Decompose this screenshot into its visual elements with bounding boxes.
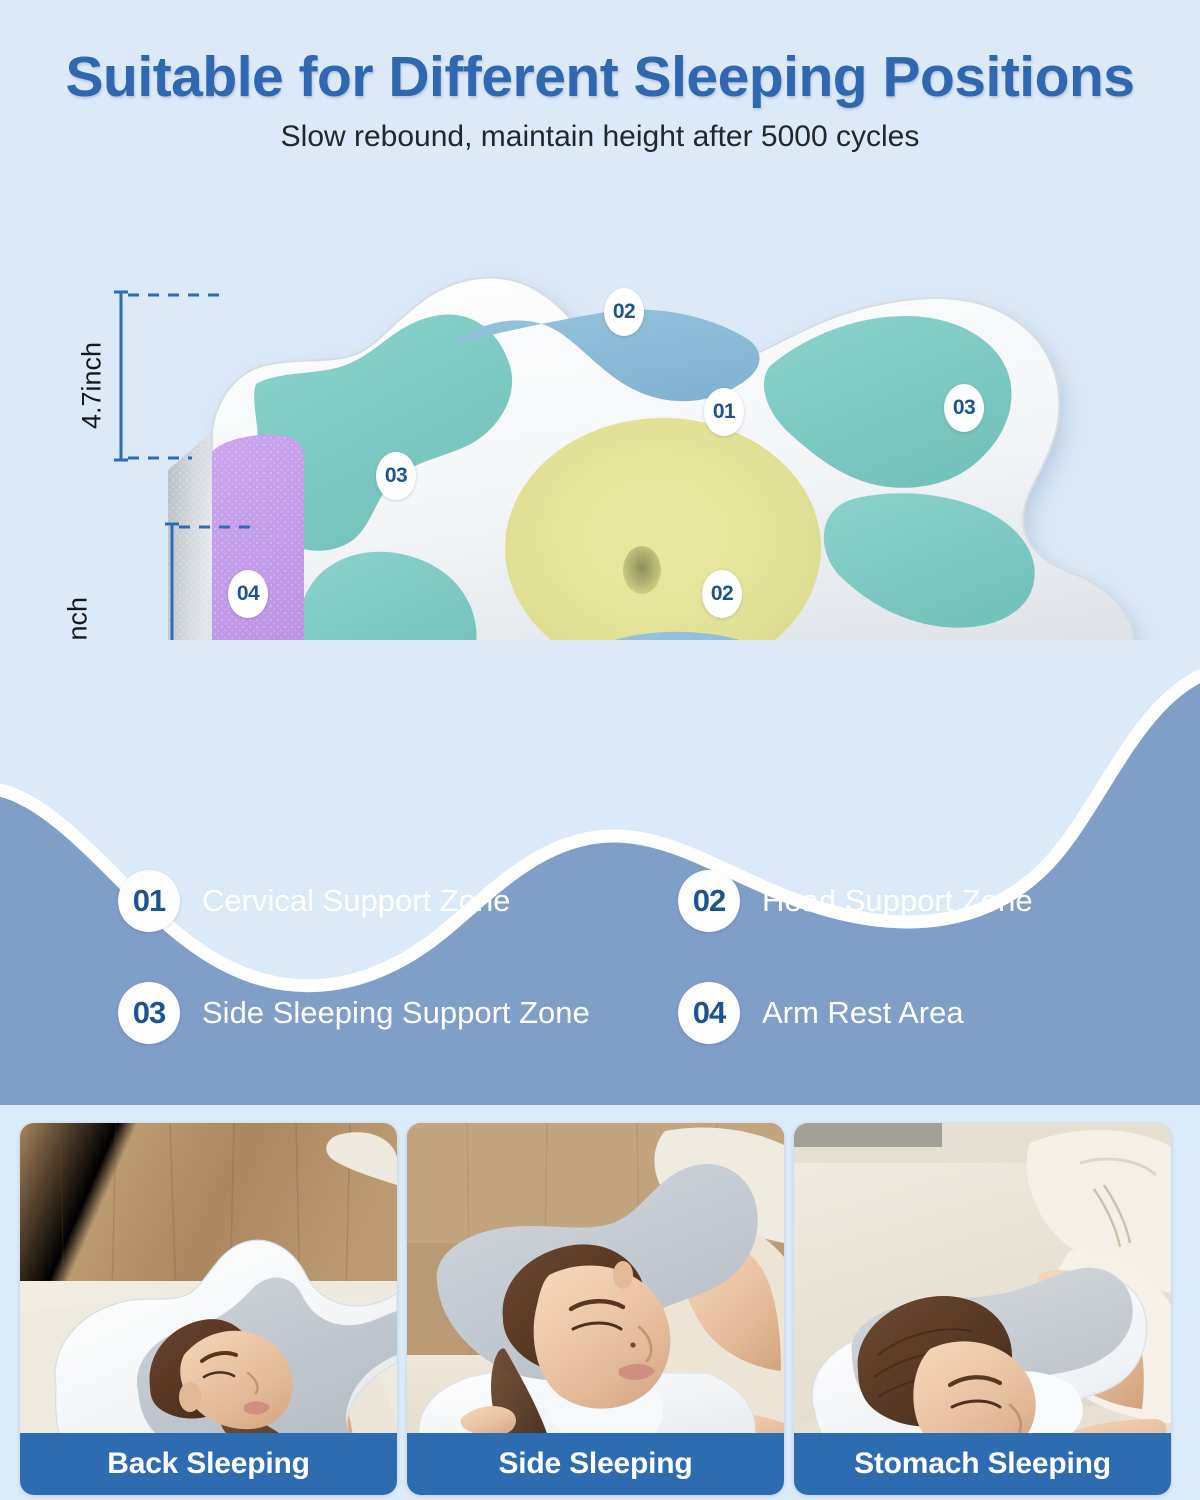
legend-item-01: 01 Cervical Support Zone (118, 870, 678, 932)
caption-side-sleeping: Side Sleeping (407, 1433, 784, 1495)
legend-item-04: 04 Arm Rest Area (678, 982, 1200, 1044)
pillow-marker-01: 01 (704, 388, 744, 436)
legend-badge-01: 01 (118, 870, 180, 932)
sleeping-positions-strip: Back Sleeping (0, 1105, 1200, 1500)
legend-label-03: Side Sleeping Support Zone (202, 995, 590, 1031)
legend-item-03: 03 Side Sleeping Support Zone (118, 982, 678, 1044)
legend-badge-02: 02 (678, 870, 740, 932)
position-card-side[interactable]: Side Sleeping (407, 1123, 784, 1495)
pillow-marker-03-left: 03 (376, 452, 416, 500)
dimension-label-4-7inch: 4.7inch (77, 286, 108, 486)
caption-stomach-sleeping: Stomach Sleeping (794, 1433, 1171, 1495)
legend-label-02: Head Support Zone (762, 883, 1033, 919)
pillow-marker-03-right: 03 (944, 384, 984, 432)
page-subtitle: Slow rebound, maintain height after 5000… (0, 120, 1200, 154)
pillow-marker-02-top: 02 (604, 288, 644, 336)
legend-label-04: Arm Rest Area (762, 995, 964, 1031)
pillow-marker-02-bottom: 02 (702, 570, 742, 618)
page-title: Suitable for Different Sleeping Position… (0, 44, 1200, 110)
legend-label-01: Cervical Support Zone (202, 883, 510, 919)
position-card-back[interactable]: Back Sleeping (20, 1123, 397, 1495)
pillow-center-hole (623, 546, 661, 594)
legend-item-02: 02 Head Support Zone (678, 870, 1200, 932)
caption-back-sleeping: Back Sleeping (20, 1433, 397, 1495)
pillow-marker-04: 04 (228, 570, 268, 618)
legend-badge-03: 03 (118, 982, 180, 1044)
position-card-stomach[interactable]: Stomach Sleeping (794, 1123, 1171, 1495)
zone-legend: 01 Cervical Support Zone 02 Head Support… (0, 845, 1200, 1065)
legend-badge-04: 04 (678, 982, 740, 1044)
